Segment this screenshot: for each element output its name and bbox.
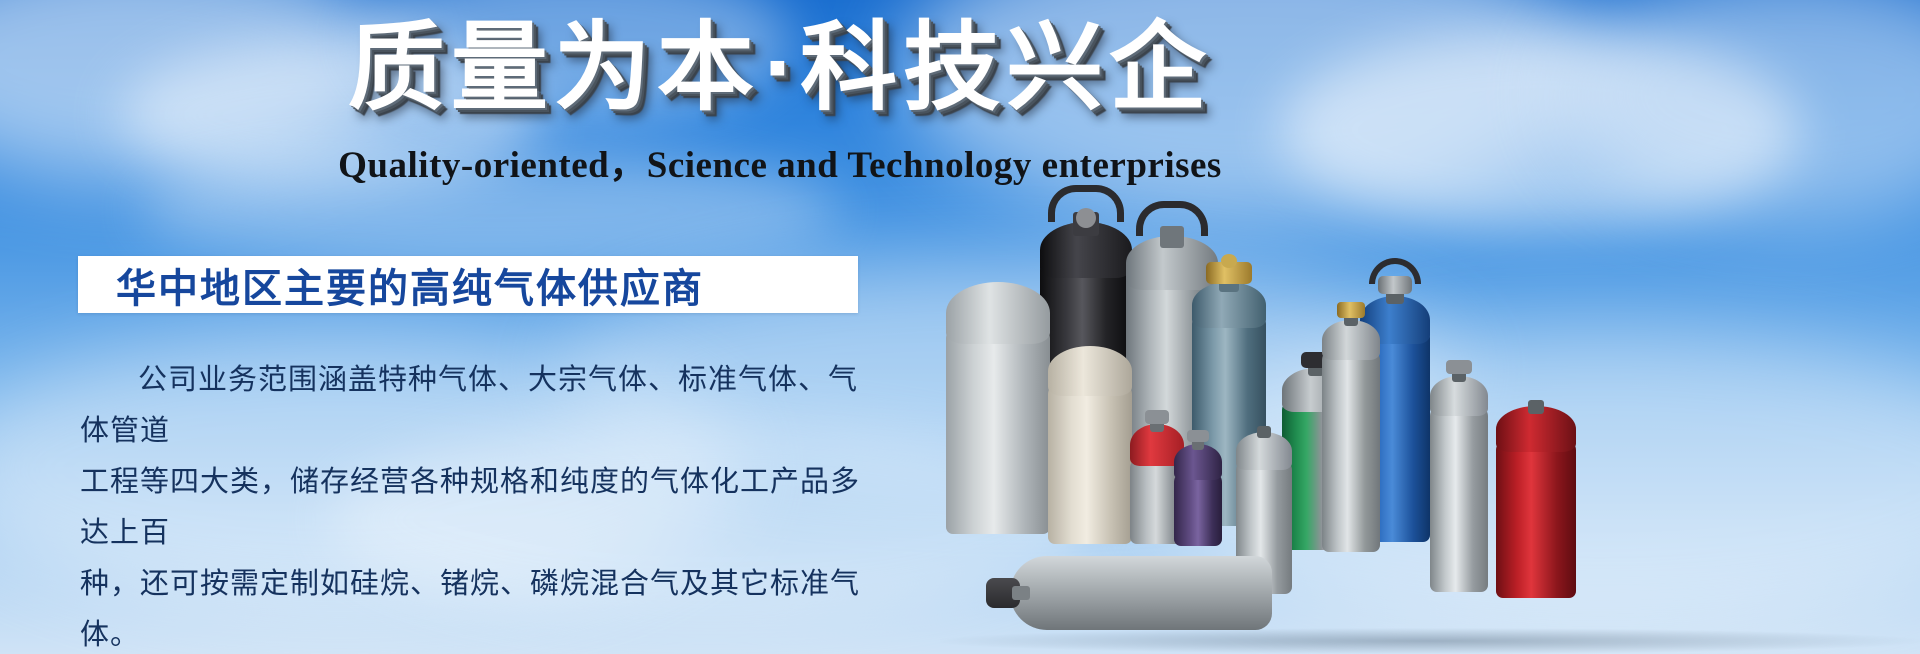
promotional-banner: 质量为本·科技兴企 Quality-oriented，Science and T… [0,0,1920,654]
description-paragraph: 公司业务范围涵盖特种气体、大宗气体、标准气体、气体管道 工程等四大类，储存经营各… [80,355,870,654]
slogan-box: 华中地区主要的高纯气体供应商 [78,256,858,313]
slogan-text: 华中地区主要的高纯气体供应商 [78,256,704,314]
horizontal-lying-cylinder [986,554,1276,630]
paragraph-line-2: 工程等四大类，储存经营各种规格和纯度的气体化工产品多达上百 [80,457,870,559]
brass-valve-icon [1337,302,1365,318]
purple-small-cylinder [1174,426,1222,546]
paragraph-line-1: 公司业务范围涵盖特种气体、大宗气体、标准气体、气体管道 [80,355,870,457]
ground-shadow [940,628,1920,654]
paragraph-line-3: 种，还可按需定制如硅烷、锗烷、磷烷混合气及其它标准气体。 [80,559,870,654]
aluminium-cylinder [1430,362,1488,592]
gas-cylinder-group-photo [930,0,1920,654]
white-large-cylinder [946,284,1050,534]
headline-separator-dot: · [760,13,800,122]
headline-part-1: 质量为本 [348,13,760,122]
cream-cylinder [1048,344,1132,544]
dark-red-cylinder [1496,398,1576,598]
aluminium-cylinder [1322,292,1380,552]
